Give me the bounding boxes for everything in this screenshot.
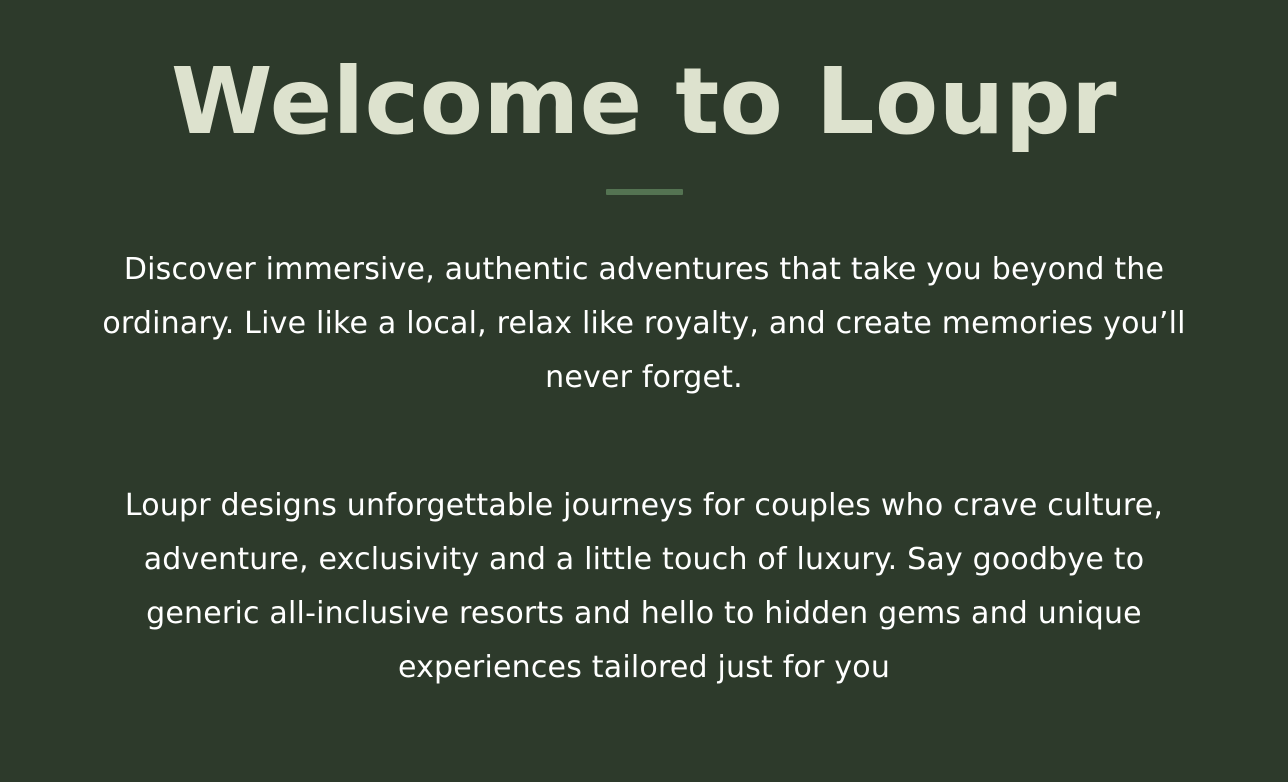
- intro-paragraph: Discover immersive, authentic adventures…: [97, 243, 1191, 405]
- about-paragraph: Loupr designs unforgettable journeys for…: [114, 479, 1174, 695]
- welcome-page: Welcome to Loupr Discover immersive, aut…: [0, 0, 1288, 782]
- divider-container: [0, 189, 1288, 195]
- section-divider: [606, 189, 683, 195]
- page-title: Welcome to Loupr: [0, 48, 1288, 157]
- body-copy-container: Discover immersive, authentic adventures…: [97, 243, 1191, 695]
